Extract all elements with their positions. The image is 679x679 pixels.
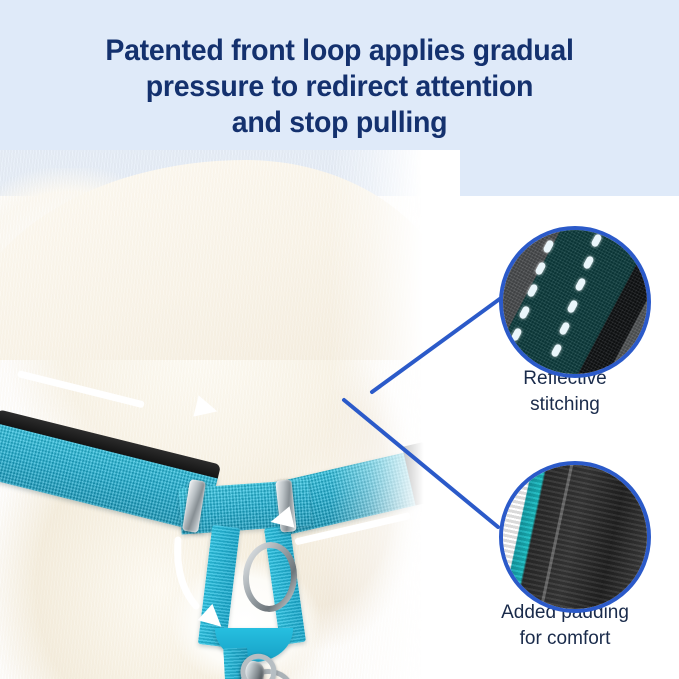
photo-background-fade — [330, 150, 460, 679]
callout-added-padding — [499, 461, 651, 613]
product-infographic: Patented front loop applies gradual pres… — [0, 0, 679, 679]
callout-reflective-stitching — [499, 226, 651, 378]
callout-bubble-padding — [499, 461, 651, 613]
product-photo — [0, 150, 460, 679]
padding-fabric-texture — [499, 461, 651, 613]
headline-text: Patented front loop applies gradual pres… — [17, 33, 662, 141]
callout-bubble-reflective — [499, 226, 651, 378]
